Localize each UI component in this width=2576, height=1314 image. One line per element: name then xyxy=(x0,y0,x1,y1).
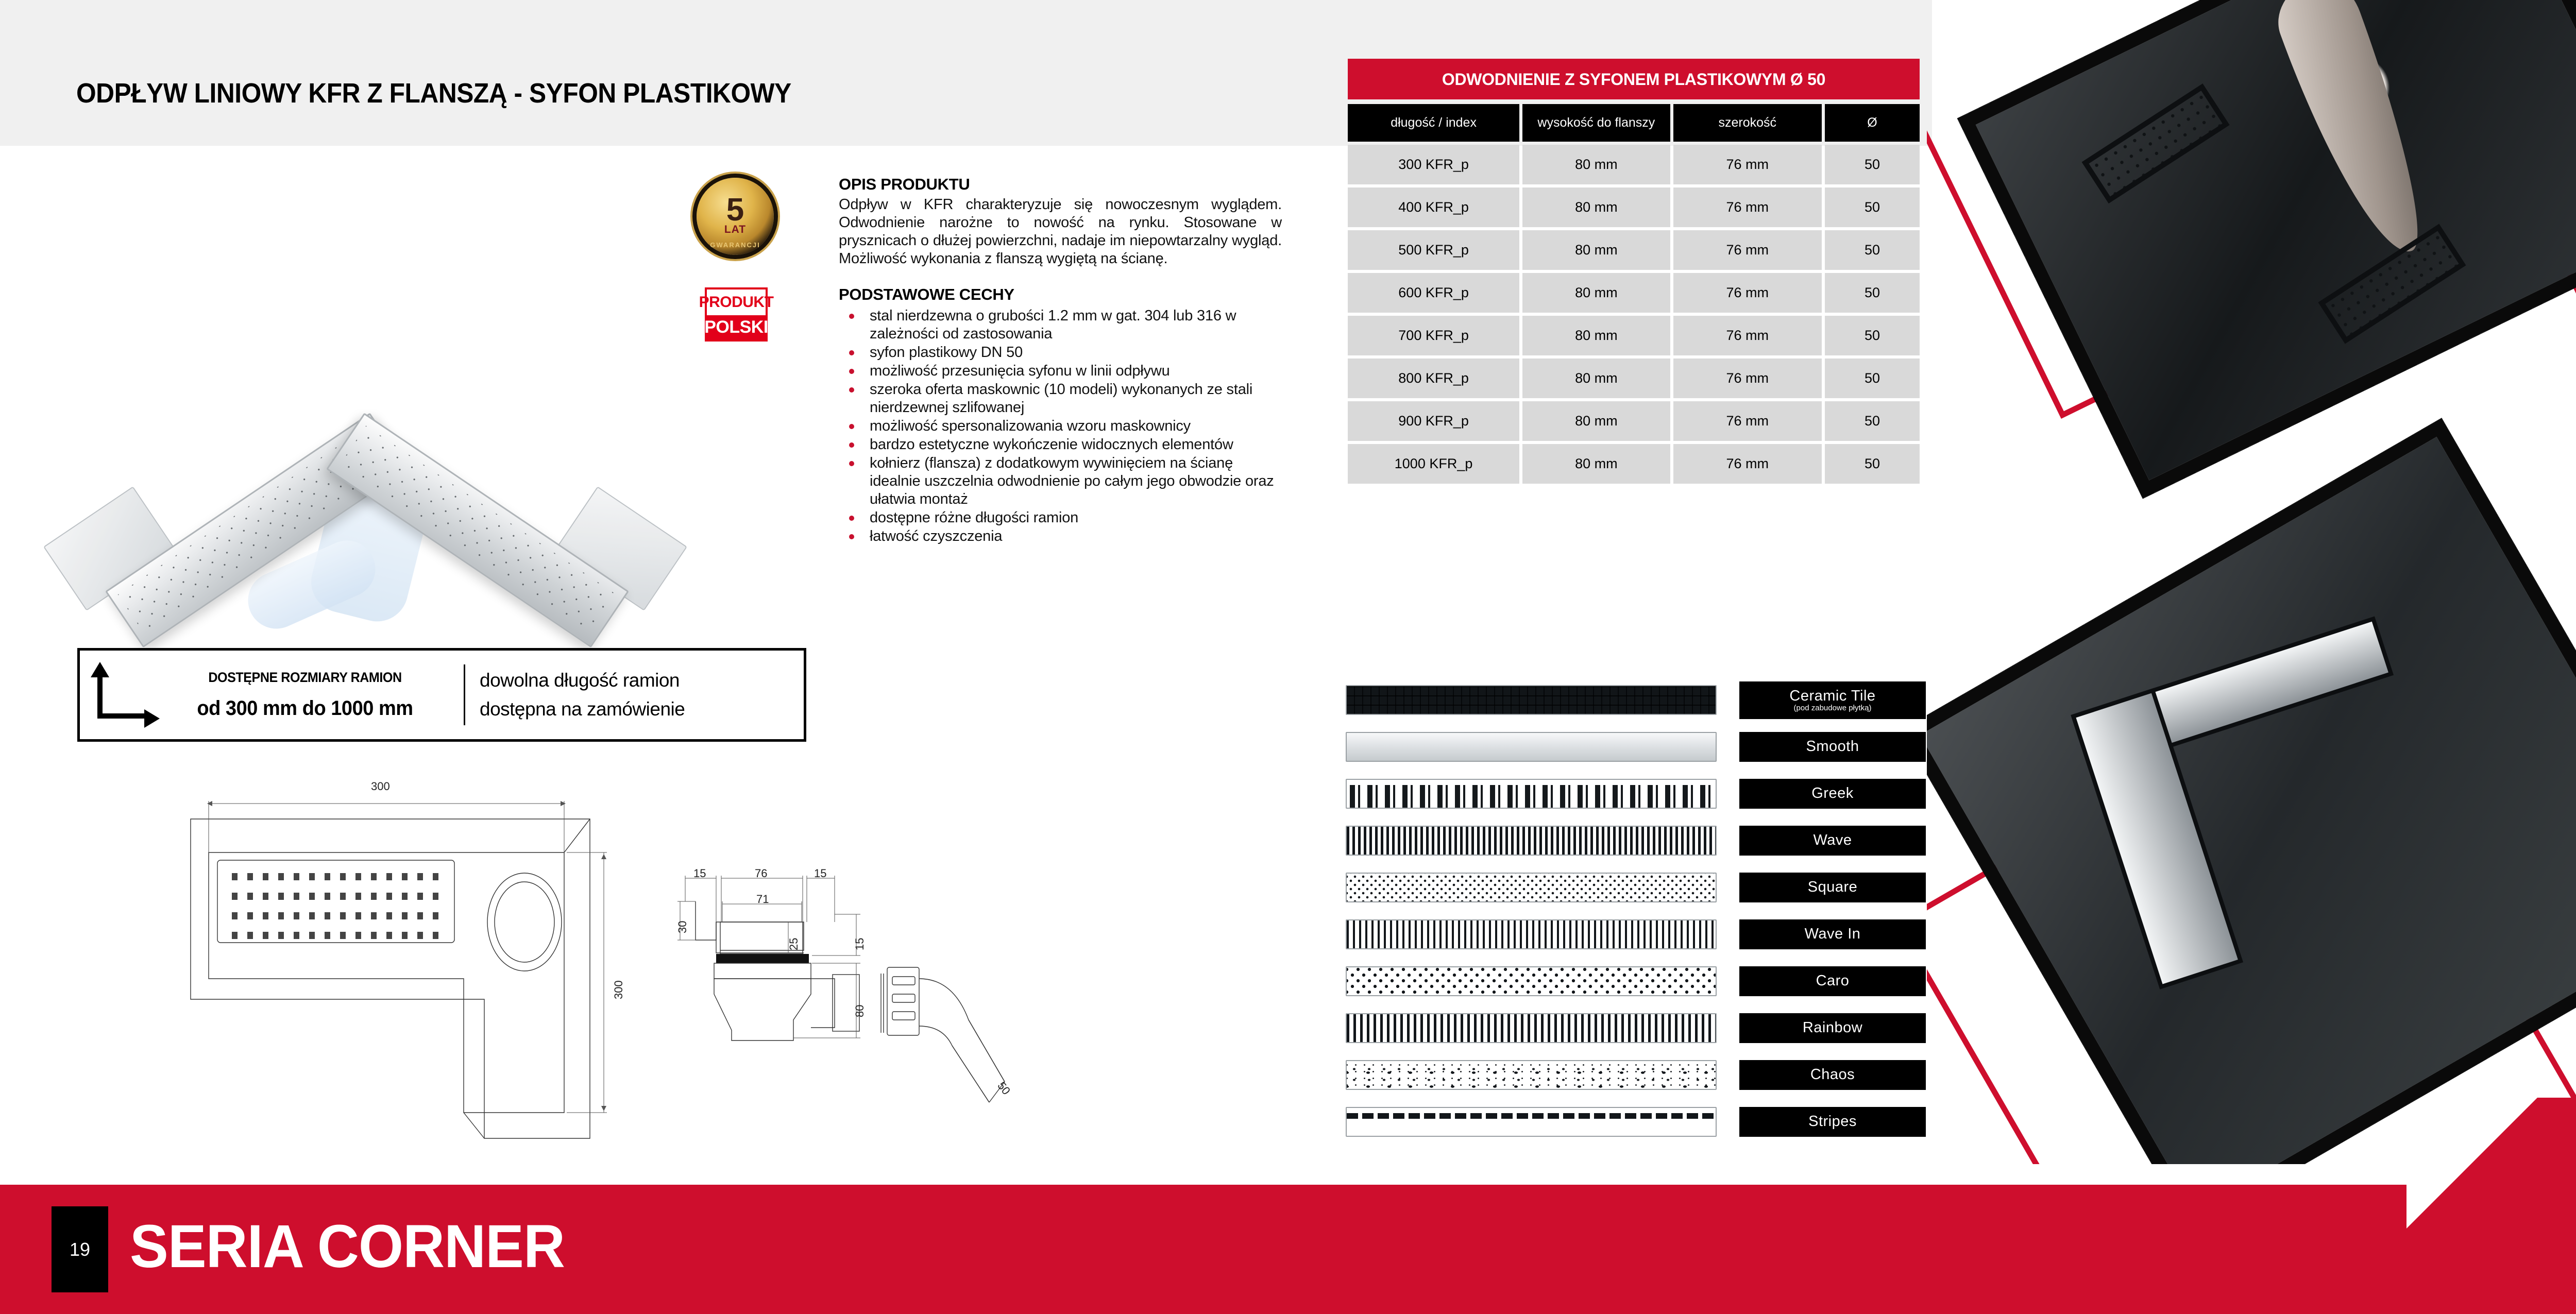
section-view-svg xyxy=(665,824,1056,1113)
list-item: bardzo estetyczne wykończenie widocznych… xyxy=(839,436,1282,454)
grate-label-stripes: Stripes xyxy=(1739,1107,1926,1137)
column-header-length: długość / index xyxy=(1348,104,1519,142)
grate-thumbnail-wave-in xyxy=(1346,919,1717,949)
cell-diameter: 50 xyxy=(1825,401,1920,441)
list-item: możliwość przesunięcia syfonu w linii od… xyxy=(839,362,1282,380)
grate-thumbnail-chaos xyxy=(1346,1060,1717,1090)
cell-width: 76 mm xyxy=(1673,359,1822,398)
available-sizes-box: DOSTĘPNE ROZMIARY RAMION od 300 mm do 10… xyxy=(77,648,806,742)
features-heading: PODSTAWOWE CECHY xyxy=(839,285,1282,304)
cell-diameter: 50 xyxy=(1825,187,1920,227)
dim-body-width: 76 xyxy=(755,867,767,880)
list-item: możliwość spersonalizowania wzoru maskow… xyxy=(839,417,1282,435)
list-item: Smooth xyxy=(1346,727,1928,767)
cell-height: 80 mm xyxy=(1522,230,1670,270)
cell-diameter: 50 xyxy=(1825,230,1920,270)
photo-grate-top xyxy=(2082,83,2230,203)
list-item: Greek xyxy=(1346,774,1928,814)
cell-width: 76 mm xyxy=(1673,187,1822,227)
list-item: syfon plastikowy DN 50 xyxy=(839,344,1282,362)
cell-width: 76 mm xyxy=(1673,230,1822,270)
cell-diameter: 50 xyxy=(1825,359,1920,398)
table-row: 600 KFR_p 80 mm 76 mm 50 xyxy=(1348,273,1920,313)
grate-thumbnail-smooth xyxy=(1346,732,1717,762)
sizes-range: od 300 mm do 1000 mm xyxy=(168,697,442,720)
dim-plan-width: 300 xyxy=(371,780,390,793)
grate-thumbnail-wave xyxy=(1346,826,1717,856)
product-hero-image xyxy=(31,201,701,618)
corner-drain-render xyxy=(31,201,701,618)
cell-length: 300 KFR_p xyxy=(1348,145,1519,184)
dim-plan-height: 300 xyxy=(612,980,625,999)
grate-thumbnail-caro xyxy=(1346,966,1717,996)
technical-drawing-plan: 300 300 xyxy=(155,757,618,1149)
dimension-arrow-icon xyxy=(91,664,161,726)
grate-label-wave: Wave xyxy=(1739,826,1926,856)
page-footer: 19 SERIA CORNER 20 xyxy=(0,1185,2576,1314)
page-number-right: 20 xyxy=(2443,1206,2499,1292)
description-column: OPIS PRODUKTU Odpływ w KFR charakteryzuj… xyxy=(839,175,1282,546)
grate-label-greek: Greek xyxy=(1739,779,1926,809)
cell-height: 80 mm xyxy=(1522,359,1670,398)
sizes-label: DOSTĘPNE ROZMIARY RAMION xyxy=(171,670,439,686)
list-item: szeroka oferta maskownic (10 modeli) wyk… xyxy=(839,381,1282,417)
column-header-diameter: Ø xyxy=(1825,104,1920,142)
cell-width: 76 mm xyxy=(1673,316,1822,355)
list-item: Ceramic Tile (pod zabudowe płytką) xyxy=(1346,680,1928,720)
features-list: stal nierdzewna o grubości 1.2 mm w gat.… xyxy=(839,307,1282,545)
cell-diameter: 50 xyxy=(1825,145,1920,184)
sizes-note-line1: dowolna długość ramion xyxy=(480,666,685,695)
sizes-note-line2: dostępna na zamówienie xyxy=(480,695,685,724)
cell-height: 80 mm xyxy=(1522,401,1670,441)
cell-diameter: 50 xyxy=(1825,273,1920,313)
lifestyle-photo-feet-shower xyxy=(1958,0,2576,498)
grate-thumbnail-stripes xyxy=(1346,1107,1717,1137)
cell-width: 76 mm xyxy=(1673,145,1822,184)
grate-name: Ceramic Tile xyxy=(1789,688,1875,704)
grate-sub: (pod zabudowe płytką) xyxy=(1739,704,1926,712)
table-row: 900 KFR_p 80 mm 76 mm 50 xyxy=(1348,401,1920,441)
table-row: 400 KFR_p 80 mm 76 mm 50 xyxy=(1348,187,1920,227)
cell-length: 600 KFR_p xyxy=(1348,273,1519,313)
cell-height: 80 mm xyxy=(1522,187,1670,227)
cell-length: 400 KFR_p xyxy=(1348,187,1519,227)
warranty-unit: LAT xyxy=(724,224,746,236)
table-row: 300 KFR_p 80 mm 76 mm 50 xyxy=(1348,145,1920,184)
origin-badge-line2: POLSKI xyxy=(707,315,766,339)
page-title: ODPŁYW LINIOWY KFR Z FLANSZĄ - SYFON PLA… xyxy=(76,77,791,109)
sizes-note: dowolna długość ramion dostępna na zamów… xyxy=(480,666,685,724)
cell-height: 80 mm xyxy=(1522,273,1670,313)
cell-width: 76 mm xyxy=(1673,401,1822,441)
list-item: Wave xyxy=(1346,821,1928,861)
grate-thumbnail-greek xyxy=(1346,779,1717,809)
catalog-page: ODPŁYW LINIOWY KFR Z FLANSZĄ - SYFON PLA… xyxy=(0,0,2576,1314)
column-header-width: szerokość xyxy=(1673,104,1822,142)
list-item: stal nierdzewna o grubości 1.2 mm w gat.… xyxy=(839,307,1282,343)
grate-label-square: Square xyxy=(1739,873,1926,902)
table-header-row: długość / index wysokość do flanszy szer… xyxy=(1348,104,1920,142)
cell-length: 500 KFR_p xyxy=(1348,230,1519,270)
cell-height: 80 mm xyxy=(1522,145,1670,184)
page-number-left: 19 xyxy=(52,1206,108,1292)
cell-diameter: 50 xyxy=(1825,316,1920,355)
dim-right-flange: 15 xyxy=(814,867,826,880)
table-row: 800 KFR_p 80 mm 76 mm 50 xyxy=(1348,359,1920,398)
grate-label-rainbow: Rainbow xyxy=(1739,1013,1926,1043)
dim-total-height: 80 xyxy=(853,1005,867,1017)
cell-width: 76 mm xyxy=(1673,444,1822,484)
grate-label-ceramic-tile: Ceramic Tile (pod zabudowe płytką) xyxy=(1739,681,1926,719)
list-item: Wave In xyxy=(1346,914,1928,954)
dim-flange-height: 30 xyxy=(676,921,689,933)
dim-left-flange: 15 xyxy=(693,867,706,880)
cell-height: 80 mm xyxy=(1522,444,1670,484)
dim-inner-width: 71 xyxy=(756,893,769,906)
list-item: Chaos xyxy=(1346,1055,1928,1095)
table-title: ODWODNIENIE Z SYFONEM PLASTIKOWYM Ø 50 xyxy=(1348,59,1920,99)
table-row: 500 KFR_p 80 mm 76 mm 50 xyxy=(1348,230,1920,270)
grate-label-chaos: Chaos xyxy=(1739,1060,1926,1090)
grate-label-caro: Caro xyxy=(1739,966,1926,996)
cell-height: 80 mm xyxy=(1522,316,1670,355)
grate-label-smooth: Smooth xyxy=(1739,732,1926,762)
cell-diameter: 50 xyxy=(1825,444,1920,484)
list-item: Stripes xyxy=(1346,1102,1928,1142)
list-item: Caro xyxy=(1346,961,1928,1001)
cell-width: 76 mm xyxy=(1673,273,1822,313)
sizes-text-block: DOSTĘPNE ROZMIARY RAMION od 300 mm do 10… xyxy=(161,670,449,720)
photo-collage xyxy=(1927,0,2576,1164)
warranty-badge-icon: 5 LAT GWARANCJI xyxy=(697,178,774,255)
photo-legs xyxy=(2266,0,2443,268)
cell-length: 800 KFR_p xyxy=(1348,359,1519,398)
cell-length: 1000 KFR_p xyxy=(1348,444,1519,484)
list-item: łatwość czyszczenia xyxy=(839,527,1282,545)
grate-thumbnail-ceramic-tile xyxy=(1346,685,1717,715)
product-table: ODWODNIENIE Z SYFONEM PLASTIKOWYM Ø 50 d… xyxy=(1348,59,1920,484)
grate-patterns-list: Ceramic Tile (pod zabudowe płytką) Smoot… xyxy=(1346,680,1928,1149)
cell-length: 700 KFR_p xyxy=(1348,316,1519,355)
table-row: 700 KFR_p 80 mm 76 mm 50 xyxy=(1348,316,1920,355)
divider xyxy=(464,664,465,725)
grate-thumbnail-rainbow xyxy=(1346,1013,1717,1043)
grate-label-wave-in: Wave In xyxy=(1739,919,1926,949)
grate-thumbnail-square xyxy=(1346,873,1717,902)
table-row: 1000 KFR_p 80 mm 76 mm 50 xyxy=(1348,444,1920,484)
list-item: kołnierz (flansza) z dodatkowym wywinięc… xyxy=(839,454,1282,508)
dim-channel-depth: 25 xyxy=(787,938,801,950)
warranty-text: GWARANCJI xyxy=(710,241,760,249)
list-item: dostępne różne długości ramion xyxy=(839,509,1282,527)
list-item: Rainbow xyxy=(1346,1008,1928,1048)
description-heading: OPIS PRODUKTU xyxy=(839,175,1282,194)
plan-view-svg xyxy=(155,757,618,1149)
description-body: Odpływ w KFR charakteryzuje się nowoczes… xyxy=(839,196,1282,268)
cell-length: 900 KFR_p xyxy=(1348,401,1519,441)
origin-badge: PRODUKT POLSKI xyxy=(705,287,768,342)
list-item: Square xyxy=(1346,867,1928,908)
column-header-height: wysokość do flanszy xyxy=(1522,104,1670,142)
dim-top-offset: 15 xyxy=(853,938,867,950)
origin-badge-line1: PRODUKT xyxy=(707,289,766,315)
photo-corner-grate xyxy=(2071,616,2464,989)
technical-drawing-section: 15 76 15 71 30 25 15 80 50 xyxy=(665,824,1056,1113)
series-title: SERIA CORNER xyxy=(130,1211,565,1282)
warranty-years: 5 xyxy=(726,197,744,224)
